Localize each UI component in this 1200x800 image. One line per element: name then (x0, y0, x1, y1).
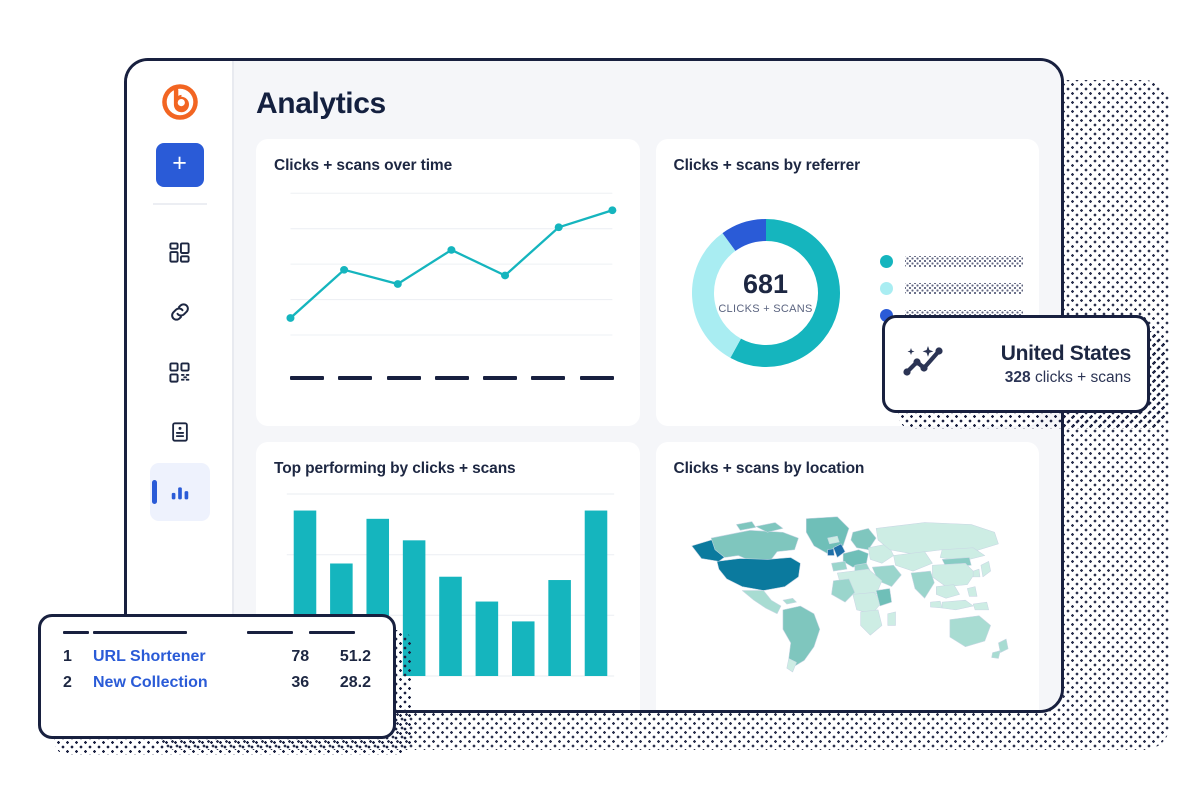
axis-tick-redaction (338, 376, 372, 380)
landing-page-icon (169, 421, 191, 443)
card-title-donut: Clicks + scans by referrer (674, 157, 1022, 175)
axis-tick-redaction (290, 376, 324, 380)
qr-code-icon (168, 361, 191, 384)
table-header-name (93, 631, 247, 644)
sidebar-item-links[interactable] (150, 283, 210, 341)
header-redaction (63, 631, 89, 634)
header-redaction (309, 631, 355, 634)
header-redaction (93, 631, 187, 634)
donut-legend-item[interactable] (880, 282, 1023, 295)
legend-label-redaction (905, 283, 1023, 294)
header-redaction (247, 631, 293, 634)
callout-metric: 328 clicks + scans (959, 369, 1131, 387)
screenshot-stage: + (0, 0, 1200, 800)
link-icon (168, 300, 192, 324)
card-clicks-over-time: Clicks + scans over time (256, 139, 640, 426)
table-header-clicks (247, 631, 309, 644)
card-title-map: Clicks + scans by location (674, 460, 1022, 478)
table-header-row (63, 631, 371, 644)
legend-color-dot (880, 282, 893, 295)
sidebar-item-analytics[interactable] (150, 463, 210, 521)
card-title-line: Clicks + scans over time (274, 157, 622, 175)
cell-rank: 2 (63, 670, 93, 696)
cell-clicks: 78 (247, 644, 309, 670)
line-chart-xaxis-labels (290, 376, 614, 380)
donut-chart-svg (680, 207, 852, 379)
link-name[interactable]: URL Shortener (93, 648, 206, 665)
donut-legend-item[interactable] (880, 255, 1023, 268)
sidebar-item-dashboard[interactable] (150, 223, 210, 281)
plus-icon: + (172, 151, 187, 176)
table-header-rate (309, 631, 371, 644)
table-body: 1URL Shortener7851.22New Collection3628.… (63, 644, 371, 696)
axis-tick-redaction (483, 376, 517, 380)
bar-chart-icon (169, 481, 191, 503)
callout-text: United States 328 clicks + scans (959, 342, 1131, 387)
callout-metric-value: 328 (1005, 369, 1031, 386)
cell-rank: 1 (63, 644, 93, 670)
axis-tick-redaction (435, 376, 469, 380)
world-map-svg (682, 504, 1012, 676)
callout-metric-suffix: clicks + scans (1031, 369, 1131, 386)
axis-tick-redaction (387, 376, 421, 380)
top-performing-table: 1URL Shortener7851.22New Collection3628.… (63, 631, 371, 696)
line-chart[interactable] (274, 181, 622, 396)
sidebar-item-qr-codes[interactable] (150, 343, 210, 401)
table-row[interactable]: 2New Collection3628.2 (63, 670, 371, 696)
cell-clicks: 36 (247, 670, 309, 696)
legend-color-dot (880, 255, 893, 268)
bitly-logo-icon[interactable] (159, 81, 201, 123)
donut-chart[interactable]: 681 CLICKS + SCANS (680, 207, 852, 379)
legend-label-redaction (905, 256, 1023, 267)
cell-rate: 28.2 (309, 670, 371, 696)
create-new-button[interactable]: + (156, 143, 204, 187)
top-performing-table-card: 1URL Shortener7851.22New Collection3628.… (38, 614, 396, 739)
trend-sparkle-icon (901, 342, 947, 387)
table-head (63, 631, 371, 644)
table-row[interactable]: 1URL Shortener7851.2 (63, 644, 371, 670)
sidebar: + (127, 61, 234, 710)
sidebar-divider (153, 203, 207, 205)
callout-country-name: United States (959, 342, 1131, 366)
line-chart-svg (274, 181, 622, 356)
sidebar-item-pages[interactable] (150, 403, 210, 461)
cell-name: URL Shortener (93, 644, 247, 670)
world-map[interactable] (674, 484, 1022, 696)
card-title-bars: Top performing by clicks + scans (274, 460, 622, 478)
page-title: Analytics (256, 87, 1039, 121)
axis-tick-redaction (580, 376, 614, 380)
table-header-rank (63, 631, 93, 644)
cell-rate: 51.2 (309, 644, 371, 670)
united-states-callout[interactable]: United States 328 clicks + scans (882, 315, 1150, 413)
dashboard-grid-icon (168, 241, 191, 264)
card-clicks-by-location: Clicks + scans by location (656, 442, 1040, 710)
axis-tick-redaction (531, 376, 565, 380)
link-name[interactable]: New Collection (93, 674, 208, 691)
cell-name: New Collection (93, 670, 247, 696)
